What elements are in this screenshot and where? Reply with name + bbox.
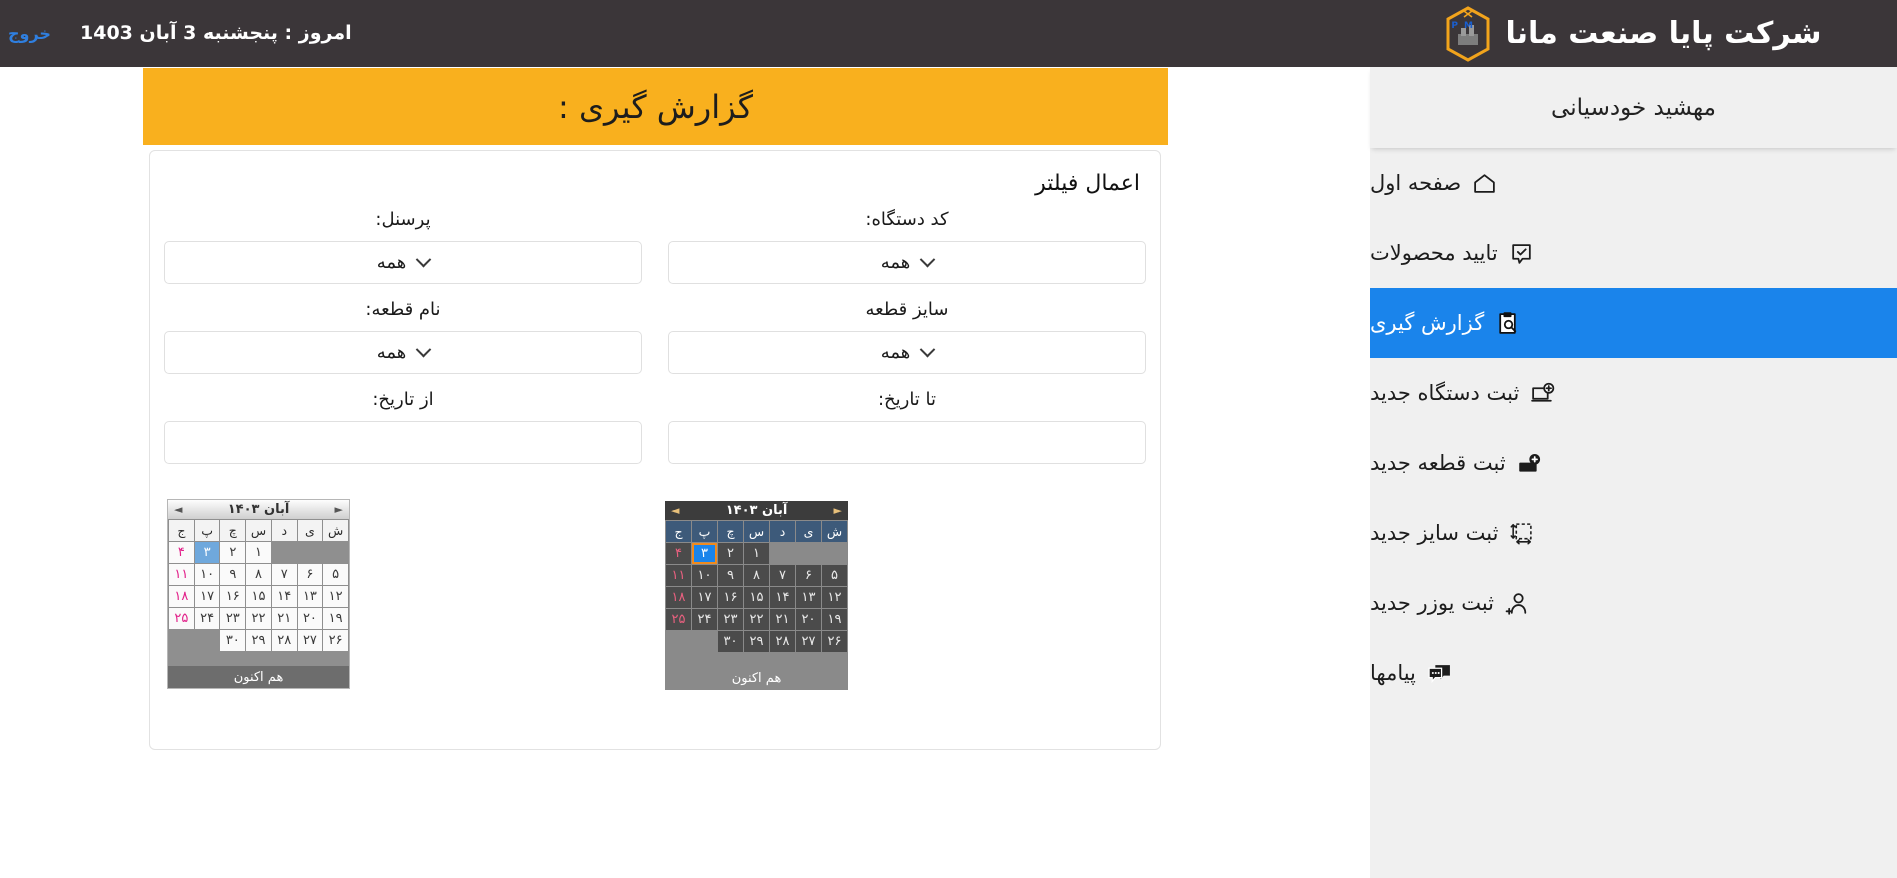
calendar-week-row: ۵۶۷۸۹۱۰۱۱ [169,564,348,585]
calendar-day-cell[interactable]: ۱۸ [666,587,691,608]
calendar-day-cell[interactable]: ۹ [220,564,245,585]
calendar-day-cell[interactable]: ۱۱ [666,565,691,586]
calendar-day-cell[interactable]: ۲۵ [666,609,691,630]
calendar-day-cell[interactable]: ۱۲ [822,587,847,608]
calendar-day-cell[interactable]: ۱۴ [272,586,297,607]
calendar-header: ► آبان ۱۴۰۳ ◄ [167,499,350,519]
calendar-empty-cell [666,631,691,652]
svg-text:M: M [1465,21,1474,31]
calendar-day-cell[interactable]: ۸ [744,565,769,586]
calendar-week-row: ۱۹۲۰۲۱۲۲۲۳۲۴۲۵ [666,609,847,630]
calendar-day-cell[interactable]: ۲۱ [770,609,795,630]
filter-field-part-size: سایز قطعه همه [668,299,1146,374]
sidebar-item-home[interactable]: صفحه اول [1370,148,1897,218]
user-name-label: مهشید خودسیانی [1551,95,1716,121]
calendar-day-cell[interactable]: ۱۰ [692,565,717,586]
filter-label: سایز قطعه [668,299,1146,322]
calendar-day-cell[interactable]: ۲۲ [246,608,271,629]
sidebar-item-add-size[interactable]: ثبت سایز جدید [1370,498,1897,568]
calendar-day-cell[interactable]: ۳ [195,542,220,563]
calendar-weekday-cell: ی [796,521,821,542]
calendar-day-cell[interactable]: ۲۴ [692,609,717,630]
calendar-day-cell[interactable]: ۲ [718,543,743,564]
logout-link[interactable]: خروج [8,0,51,67]
calendar-weekday-cell: چ [718,521,743,542]
sidebar-item-label: ثبت سایز جدید [1370,523,1498,544]
part-name-select[interactable]: همه [164,331,642,374]
calendar-empty-cell [298,542,323,563]
calendar-day-cell[interactable]: ۱۱ [169,564,194,585]
select-value: همه [377,252,407,273]
calendar-day-cell[interactable]: ۱۶ [718,587,743,608]
calendar-day-cell[interactable]: ۱۵ [744,587,769,608]
calendar-day-cell[interactable]: ۲۰ [298,608,323,629]
calendar-day-cell[interactable]: ۹ [718,565,743,586]
svg-text:P: P [1452,21,1459,31]
filter-field-from-date: از تاریخ: [164,389,642,464]
calendar-spacer [167,652,350,666]
calendar-day-cell[interactable]: ۱۳ [796,587,821,608]
filter-row-2: سایز قطعه همه نام قطعه: همه [164,299,1146,374]
calendar-now-button[interactable]: هم اکنون [665,667,848,690]
calendar-empty-cell [692,631,717,652]
calendar-day-cell[interactable]: ۲۷ [796,631,821,652]
calendar-empty-cell [323,542,348,563]
calendar-weekday-cell: س [744,521,769,542]
brand-title: شرکت پایا صنعت مانا [1505,16,1821,51]
calendar-day-cell[interactable]: ۲۸ [272,630,297,651]
select-value: همه [881,342,911,363]
sidebar-item-label: ثبت قطعه جدید [1370,453,1506,474]
user-panel: مهشید خودسیانی [1370,67,1897,148]
calendar-day-cell[interactable]: ۲۰ [796,609,821,630]
calendar-day-cell[interactable]: ۲۵ [169,608,194,629]
sidebar-item-label: ثبت یوزر جدید [1370,593,1494,614]
calendar-day-cell[interactable]: ۱۶ [220,586,245,607]
calendar-grid: شیدسچپج ۱۲۳۴۵۶۷۸۹۱۰۱۱۱۲۱۳۱۴۱۵۱۶۱۷۱۸۱۹۲۰۲… [665,520,848,653]
filter-label: تا تاریخ: [668,389,1146,412]
calendar-day-cell[interactable]: ۷ [272,564,297,585]
calendar-week-row: ۱۹۲۰۲۱۲۲۲۳۲۴۲۵ [169,608,348,629]
sidebar-item-messages[interactable]: پیامها [1370,638,1897,708]
calendar-weekday-cell: س [246,520,271,541]
sidebar-item-reports[interactable]: گزارش گیری [1370,288,1897,358]
calendar-day-cell[interactable]: ۲۶ [323,630,348,651]
calendar-day-cell[interactable]: ۶ [298,564,323,585]
calendar-day-cell[interactable]: ۱ [744,543,769,564]
calendar-body: ۱۲۳۴۵۶۷۸۹۱۰۱۱۱۲۱۳۱۴۱۵۱۶۱۷۱۸۱۹۲۰۲۱۲۲۲۳۲۴۲… [169,542,348,651]
to-date-input[interactable] [668,421,1146,464]
calendar-week-row: ۱۲۳۴ [169,542,348,563]
calendar-empty-cell [796,543,821,564]
add-part-icon [1517,451,1542,476]
filter-row-1: کد دستگاه: همه پرسنل: همه [164,209,1146,284]
filter-field-part-name: نام قطعه: همه [164,299,642,374]
calendar-day-cell[interactable]: ۱۴ [770,587,795,608]
calendar-weekday-cell: پ [692,521,717,542]
calendar-day-cell[interactable]: ۱۷ [195,586,220,607]
calendar-empty-cell [770,543,795,564]
sidebar-item-add-part[interactable]: ثبت قطعه جدید [1370,428,1897,498]
calendar-empty-cell [272,542,297,563]
filter-grid: کد دستگاه: همه پرسنل: همه سا [164,209,1146,479]
calendar-weekday-cell: چ [220,520,245,541]
calendar-day-cell[interactable]: ۳ [692,543,717,564]
to-date-calendar[interactable]: ► آبان ۱۴۰۳ ◄ شیدسچپج ۱۲۳۴۵۶۷۸۹۱۰۱۱۱۲۱۳۱… [167,499,350,689]
sidebar: مهشید خودسیانی صفحه اول تایید محصولات گز… [1370,67,1897,878]
home-icon [1472,171,1497,196]
calendar-weekday-cell: د [770,521,795,542]
calendar-week-row: ۱۲۱۳۱۴۱۵۱۶۱۷۱۸ [666,587,847,608]
select-value: همه [377,342,407,363]
calendar-header: ► آبان ۱۴۰۳ ◄ [665,501,848,520]
sidebar-item-label: صفحه اول [1370,173,1461,194]
chevron-down-icon [920,342,936,358]
calendar-body: ۱۲۳۴۵۶۷۸۹۱۰۱۱۱۲۱۳۱۴۱۵۱۶۱۷۱۸۱۹۲۰۲۱۲۲۲۳۲۴۲… [666,543,847,652]
calendar-day-cell[interactable]: ۱ [246,542,271,563]
filter-field-device-code: کد دستگاه: همه [668,209,1146,284]
calendar-empty-cell [169,630,194,651]
calendar-week-row: ۱۲۱۳۱۴۱۵۱۶۱۷۱۸ [169,586,348,607]
sidebar-menu: صفحه اول تایید محصولات گزارش گیری [1370,148,1897,708]
calendar-day-cell[interactable]: ۲۳ [718,609,743,630]
part-size-select[interactable]: همه [668,331,1146,374]
add-user-icon [1505,591,1530,616]
sidebar-item-add-device[interactable]: ثبت دستگاه جدید [1370,358,1897,428]
personnel-select[interactable]: همه [164,241,642,284]
calendar-empty-cell [822,543,847,564]
calendar-day-cell[interactable]: ۱۲ [323,586,348,607]
calendar-next-month-arrow[interactable]: ► [834,505,842,516]
filter-label: از تاریخ: [164,389,642,412]
brand-block: شرکت پایا صنعت مانا P M [1370,0,1897,67]
calendar-day-cell[interactable]: ۱۹ [323,608,348,629]
calendar-day-cell[interactable]: ۲۳ [220,608,245,629]
calendar-day-cell[interactable]: ۴ [666,543,691,564]
messages-icon [1427,661,1452,686]
calendar-weekday-row: شیدسچپج [169,520,348,541]
calendar-day-cell[interactable]: ۵ [323,564,348,585]
from-date-calendar[interactable]: ► آبان ۱۴۰۳ ◄ شیدسچپج ۱۲۳۴۵۶۷۸۹۱۰۱۱۱۲۱۳۱… [665,501,848,690]
top-header-bar: امروز : پنجشنبه 3 آبان 1403 خروج شرکت پا… [0,0,1897,67]
calendar-week-row: ۱۲۳۴ [666,543,847,564]
filter-label: پرسنل: [164,209,642,232]
sidebar-item-add-user[interactable]: ثبت یوزر جدید [1370,568,1897,638]
calendar-day-cell[interactable]: ۳۰ [220,630,245,651]
add-device-icon [1530,381,1555,406]
from-date-input[interactable] [164,421,642,464]
calendar-day-cell[interactable]: ۲۶ [822,631,847,652]
calendar-weekday-cell: ش [323,520,348,541]
filter-label: نام قطعه: [164,299,642,322]
select-value: همه [881,252,911,273]
chevron-down-icon [920,252,936,268]
calendar-week-row: ۲۶۲۷۲۸۲۹۳۰ [169,630,348,651]
calendar-day-cell[interactable]: ۶ [796,565,821,586]
calendar-day-cell[interactable]: ۵ [822,565,847,586]
calendar-prev-month-arrow[interactable]: ◄ [671,505,679,516]
calendar-weekday-cell: پ [195,520,220,541]
sidebar-item-label: تایید محصولات [1370,243,1498,264]
sidebar-item-label: گزارش گیری [1370,313,1484,334]
filter-field-to-date: تا تاریخ: [668,389,1146,464]
calendar-day-cell[interactable]: ۱۰ [195,564,220,585]
filter-section-title: اعمال فیلتر [1035,171,1140,196]
calendar-weekday-cell: ج [666,521,691,542]
calendar-weekday-cell: د [272,520,297,541]
calendar-day-cell[interactable]: ۱۳ [298,586,323,607]
calendar-day-cell[interactable]: ۱۸ [169,586,194,607]
main-content: گزارش گیری : اعمال فیلتر کد دستگاه: همه … [0,67,1370,878]
calendar-day-cell[interactable]: ۲۹ [744,631,769,652]
sidebar-item-label: ثبت دستگاه جدید [1370,383,1519,404]
calendar-day-cell[interactable]: ۲۹ [246,630,271,651]
calendar-day-cell[interactable]: ۸ [246,564,271,585]
sidebar-item-approve-products[interactable]: تایید محصولات [1370,218,1897,288]
calendar-day-cell[interactable]: ۲ [220,542,245,563]
check-badge-icon [1509,241,1534,266]
company-logo-icon: P M [1445,6,1491,62]
calendar-week-row: ۵۶۷۸۹۱۰۱۱ [666,565,847,586]
chevron-down-icon [416,342,432,358]
calendar-month-title: آبان ۱۴۰۳ [679,503,833,518]
calendar-spacer [665,653,848,667]
today-date-label: امروز : پنجشنبه 3 آبان 1403 [80,0,352,67]
device-code-select[interactable]: همه [668,241,1146,284]
filter-label: کد دستگاه: [668,209,1146,232]
page-title: گزارش گیری : [558,88,753,126]
add-size-icon [1509,521,1534,546]
calendar-day-cell[interactable]: ۷ [770,565,795,586]
calendar-weekday-cell: ش [822,521,847,542]
calendar-day-cell[interactable]: ۲۱ [272,608,297,629]
calendar-day-cell[interactable]: ۲۸ [770,631,795,652]
report-search-icon [1495,311,1520,336]
page-title-banner: گزارش گیری : [143,68,1168,145]
calendar-prev-month-arrow[interactable]: ◄ [174,504,182,515]
calendar-month-title: آبان ۱۴۰۳ [182,502,334,517]
calendar-day-cell[interactable]: ۱۹ [822,609,847,630]
calendar-day-cell[interactable]: ۲۴ [195,608,220,629]
calendar-day-cell[interactable]: ۴ [169,542,194,563]
calendar-day-cell[interactable]: ۱۵ [246,586,271,607]
calendar-day-cell[interactable]: ۲۲ [744,609,769,630]
calendar-week-row: ۲۶۲۷۲۸۲۹۳۰ [666,631,847,652]
calendar-next-month-arrow[interactable]: ► [335,504,343,515]
calendar-weekday-row: شیدسچپج [666,521,847,542]
filter-field-personnel: پرسنل: همه [164,209,642,284]
calendar-weekday-cell: ج [169,520,194,541]
calendar-now-button[interactable]: هم اکنون [167,666,350,689]
calendar-day-cell[interactable]: ۳۰ [718,631,743,652]
chevron-down-icon [416,252,432,268]
calendar-empty-cell [195,630,220,651]
calendar-grid: شیدسچپج ۱۲۳۴۵۶۷۸۹۱۰۱۱۱۲۱۳۱۴۱۵۱۶۱۷۱۸۱۹۲۰۲… [167,519,350,652]
sidebar-item-label: پیامها [1370,663,1416,684]
filter-row-3: تا تاریخ: از تاریخ: [164,389,1146,464]
calendar-weekday-cell: ی [298,520,323,541]
calendar-day-cell[interactable]: ۲۷ [298,630,323,651]
calendar-day-cell[interactable]: ۱۷ [692,587,717,608]
